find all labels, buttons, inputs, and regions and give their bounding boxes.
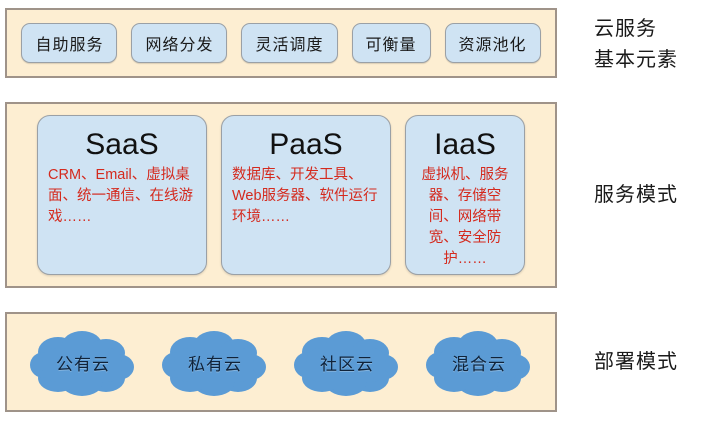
service-card-title: PaaS xyxy=(232,126,380,164)
cloud-shape-community[interactable]: 社区云 xyxy=(292,326,402,398)
cloud-computing-diagram: 自助服务 网络分发 灵活调度 可衡量 资源池化 云服务 基本元素 SaaS CR… xyxy=(0,0,720,423)
element-pill[interactable]: 可衡量 xyxy=(352,23,431,63)
panel-cloud-elements: 自助服务 网络分发 灵活调度 可衡量 资源池化 xyxy=(5,8,557,78)
side-label-cloud-elements: 云服务 基本元素 xyxy=(594,14,718,76)
service-card-iaas[interactable]: IaaS 虚拟机、服务器、存储空间、网络带宽、安全防护…… xyxy=(405,115,525,275)
side-label-deployment-models: 部署模式 xyxy=(594,347,718,378)
element-pill[interactable]: 网络分发 xyxy=(131,23,227,63)
service-card-paas[interactable]: PaaS 数据库、开发工具、Web服务器、软件运行环境…… xyxy=(221,115,391,275)
cloud-label: 私有云 xyxy=(160,326,270,398)
service-card-row: SaaS CRM、Email、虚拟桌面、统一通信、在线游戏…… PaaS 数据库… xyxy=(7,104,555,286)
element-pill-label: 自助服务 xyxy=(35,31,103,55)
side-label-service-models: 服务模式 xyxy=(594,180,718,211)
element-pill[interactable]: 自助服务 xyxy=(21,23,117,63)
element-pill-label: 可衡量 xyxy=(366,31,417,55)
cloud-shape-hybrid[interactable]: 混合云 xyxy=(424,326,534,398)
service-card-title: IaaS xyxy=(416,126,514,164)
panel-service-models: SaaS CRM、Email、虚拟桌面、统一通信、在线游戏…… PaaS 数据库… xyxy=(5,102,557,288)
cloud-label: 社区云 xyxy=(292,326,402,398)
element-pill-row: 自助服务 网络分发 灵活调度 可衡量 资源池化 xyxy=(7,10,555,76)
cloud-shape-public[interactable]: 公有云 xyxy=(28,326,138,398)
element-pill[interactable]: 灵活调度 xyxy=(241,23,337,63)
service-card-saas[interactable]: SaaS CRM、Email、虚拟桌面、统一通信、在线游戏…… xyxy=(37,115,207,275)
cloud-shape-private[interactable]: 私有云 xyxy=(160,326,270,398)
element-pill-label: 资源池化 xyxy=(459,31,527,55)
cloud-label: 混合云 xyxy=(424,326,534,398)
service-card-description: CRM、Email、虚拟桌面、统一通信、在线游戏…… xyxy=(48,165,196,228)
cloud-label: 公有云 xyxy=(28,326,138,398)
element-pill[interactable]: 资源池化 xyxy=(445,23,541,63)
service-card-description: 虚拟机、服务器、存储空间、网络带宽、安全防护…… xyxy=(416,165,514,270)
element-pill-label: 网络分发 xyxy=(145,31,213,55)
service-card-description: 数据库、开发工具、Web服务器、软件运行环境…… xyxy=(232,165,380,228)
panel-deployment-models: 公有云 私有云 xyxy=(5,312,557,412)
service-card-title: SaaS xyxy=(48,126,196,164)
element-pill-label: 灵活调度 xyxy=(255,31,323,55)
cloud-shape-row: 公有云 私有云 xyxy=(7,314,555,410)
